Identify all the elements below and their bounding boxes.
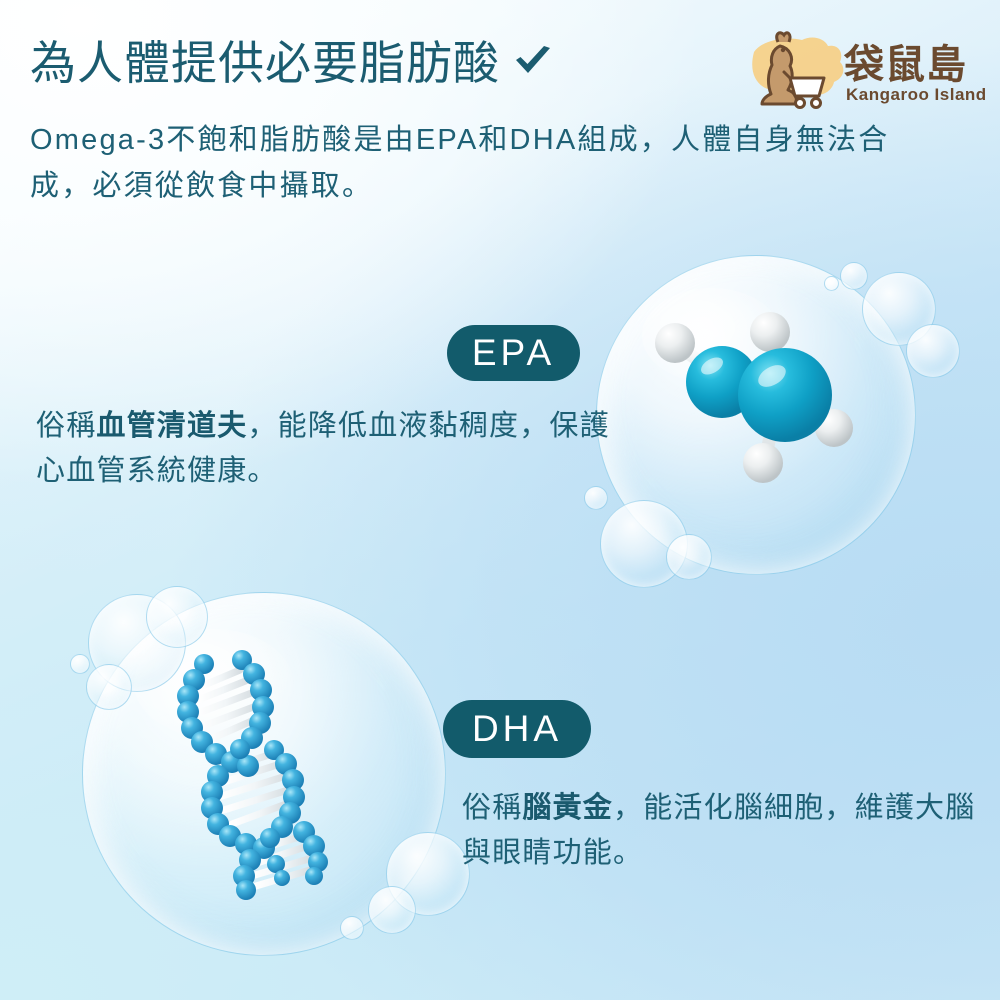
title-row: 為人體提供必要脂肪酸: [30, 40, 556, 86]
brand-name-en: Kangaroo Island: [846, 85, 986, 104]
epa-mini-bubble-6: [666, 534, 712, 580]
dha-badge-label: DHA: [472, 708, 562, 750]
dha-description: 俗稱腦黃金，能活化腦細胞，維護大腦與眼睛功能。: [462, 786, 982, 876]
dha-text-highlight: 腦黃金: [522, 792, 613, 824]
epa-text-highlight: 血管清道夫: [96, 410, 247, 442]
dha-mini-bubble-7: [340, 916, 364, 940]
epa-mini-bubble-2: [906, 324, 960, 378]
brand-logo: 袋鼠島 Kangaroo Island: [740, 26, 986, 118]
epa-badge-label: EPA: [472, 332, 555, 374]
dha-mini-bubble-4: [70, 654, 90, 674]
epa-badge: EPA: [447, 325, 580, 381]
brand-logo-artwork: 袋鼠島 Kangaroo Island: [740, 26, 986, 118]
dha-mini-bubble-6: [368, 886, 416, 934]
dha-mini-bubble-3: [86, 664, 132, 710]
page-title: 為人體提供必要脂肪酸: [30, 40, 500, 86]
brand-name-cn: 袋鼠島: [843, 43, 967, 87]
epa-text-prefix: 俗稱: [36, 410, 96, 442]
dha-mini-bubble-2: [146, 586, 208, 648]
check-icon: [510, 40, 556, 86]
header: 為人體提供必要脂肪酸 Omega-3不飽和脂肪酸是由EPA和DHA組成，人體自身…: [0, 0, 1000, 230]
page-subtitle: Omega-3不飽和脂肪酸是由EPA和DHA組成，人體自身無法合成，必須從飲食中…: [30, 118, 910, 210]
epa-mini-bubble-3: [840, 262, 868, 290]
dha-text-prefix: 俗稱: [462, 792, 522, 824]
epa-description: 俗稱血管清道夫，能降低血液黏稠度，保護心血管系統健康。: [36, 404, 636, 494]
infographic-canvas: 為人體提供必要脂肪酸 Omega-3不飽和脂肪酸是由EPA和DHA組成，人體自身…: [0, 0, 1000, 1000]
epa-mini-bubble-4: [824, 276, 839, 291]
dha-badge: DHA: [443, 700, 591, 758]
